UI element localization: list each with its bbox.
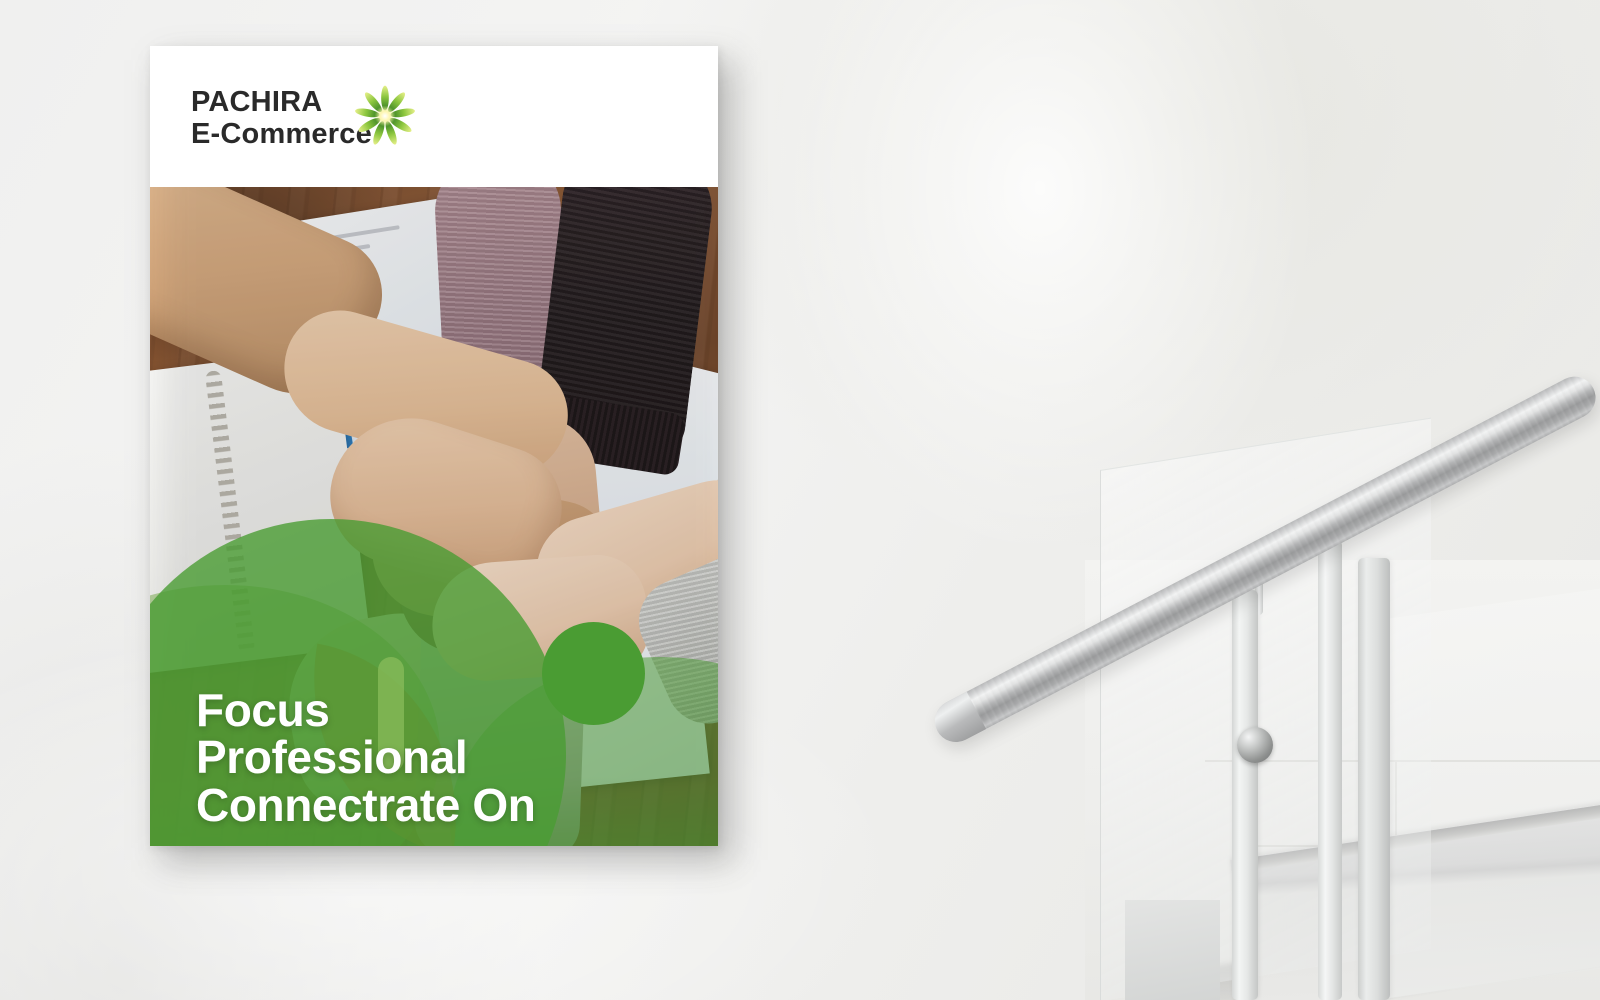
brand-name-line-2: E-Commerce <box>191 118 372 150</box>
brand-logo[interactable]: PACHIRA E-Commerce <box>191 86 372 151</box>
brand-name-line-1: PACHIRA <box>191 86 372 118</box>
headline-line-2: Professional <box>196 734 535 781</box>
glass-balustrade-panel <box>1378 589 1600 1000</box>
brand-shape-circle-solid <box>542 622 645 725</box>
headline-line-1: Focus <box>196 687 535 734</box>
brand-wordmark: PACHIRA E-Commerce <box>191 86 372 151</box>
headline-line-3: Connectrate On <box>196 782 535 829</box>
cover-header-band: PACHIRA E-Commerce <box>150 46 718 187</box>
cover-headline: Focus Professional Connectrate On <box>196 687 535 829</box>
scene-root: Focus Professional Connectrate On PACHIR… <box>0 0 1600 1000</box>
flower-petal-icon <box>354 85 416 147</box>
